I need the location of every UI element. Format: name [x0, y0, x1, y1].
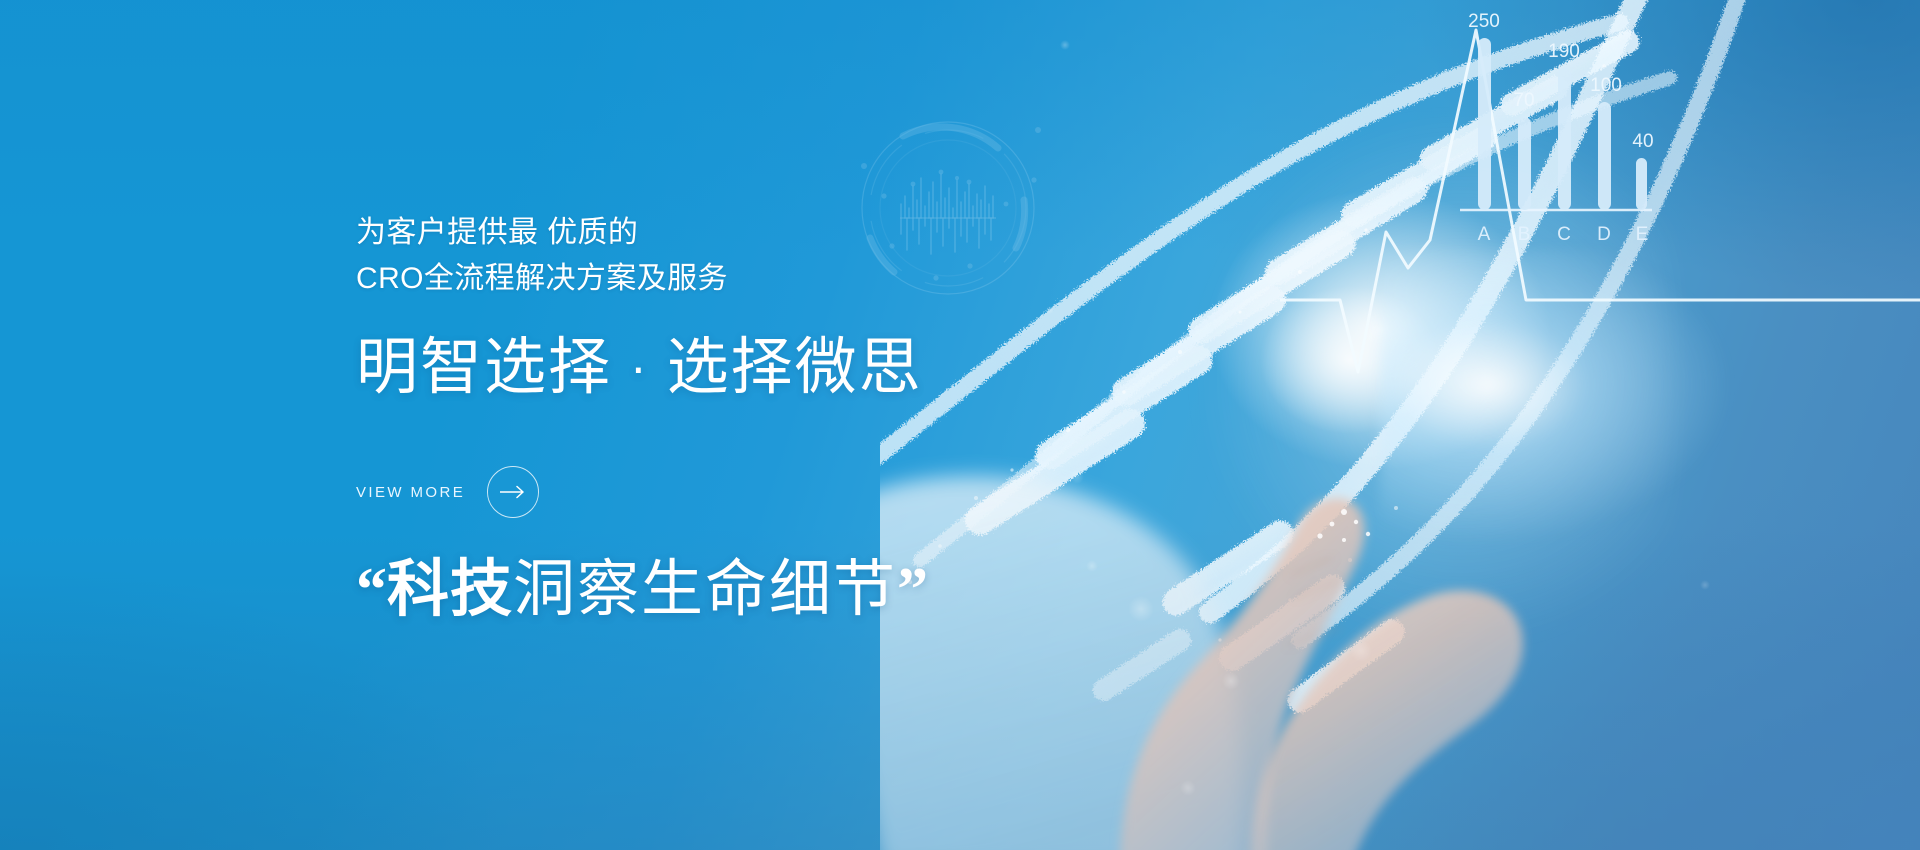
bar-category-label: A: [1478, 224, 1491, 245]
banner-stage: 250 70 190 100 40 A B C D E 为客户提供最 优质的 C…: [0, 0, 1920, 850]
quote-close-mark: ”: [897, 556, 928, 624]
bar-category-label: C: [1557, 224, 1571, 245]
data-visualization-overlay: 250 70 190 100 40 A B C D E: [1280, 0, 1920, 520]
quote-light-part: 洞察生命细节: [513, 555, 897, 624]
bar-value-label: 70: [1513, 90, 1534, 111]
hero-quote: “科技洞察生命细节”: [356, 555, 928, 625]
view-more-button[interactable]: VIEW MORE: [356, 466, 539, 518]
bokeh-dot: [1222, 672, 1240, 690]
bokeh-dot: [1128, 596, 1154, 622]
page-title: 明智选择·选择微思: [356, 337, 923, 399]
chart-category-labels: A B C D E: [1478, 224, 1649, 245]
bokeh-dot: [1086, 560, 1098, 572]
bar-chart: 250 70 190 100 40 A B C D E: [1460, 11, 1654, 245]
hero-subtitle-line1: 为客户提供最 优质的: [356, 210, 728, 256]
hero-copy: 为客户提供最 优质的 CRO全流程解决方案及服务 明智选择·选择微思 VIEW …: [356, 0, 1076, 850]
bar-value-label: 250: [1468, 11, 1500, 32]
hero-subtitle: 为客户提供最 优质的 CRO全流程解决方案及服务: [356, 210, 728, 301]
bokeh-dot: [1350, 640, 1372, 662]
headline-separator: ·: [612, 339, 667, 395]
headline-left: 明智选择: [356, 333, 612, 402]
arrow-right-icon[interactable]: [487, 466, 539, 518]
bar-category-label: D: [1597, 224, 1611, 245]
bar-value-label: 100: [1590, 75, 1622, 96]
quote-open-mark: “: [356, 556, 387, 624]
bar-value-label: 190: [1548, 41, 1580, 62]
bar-category-label: E: [1636, 224, 1649, 245]
bar-category-label: B: [1518, 224, 1531, 245]
bokeh-dot: [1180, 780, 1196, 796]
bar-value-label: 40: [1632, 131, 1653, 152]
view-more-label: VIEW MORE: [356, 484, 465, 501]
quote-bold-part: 科技: [387, 555, 513, 624]
hero-subtitle-line2: CRO全流程解决方案及服务: [356, 256, 728, 302]
bokeh-dot: [1700, 580, 1710, 590]
headline-right: 选择微思: [667, 333, 923, 402]
